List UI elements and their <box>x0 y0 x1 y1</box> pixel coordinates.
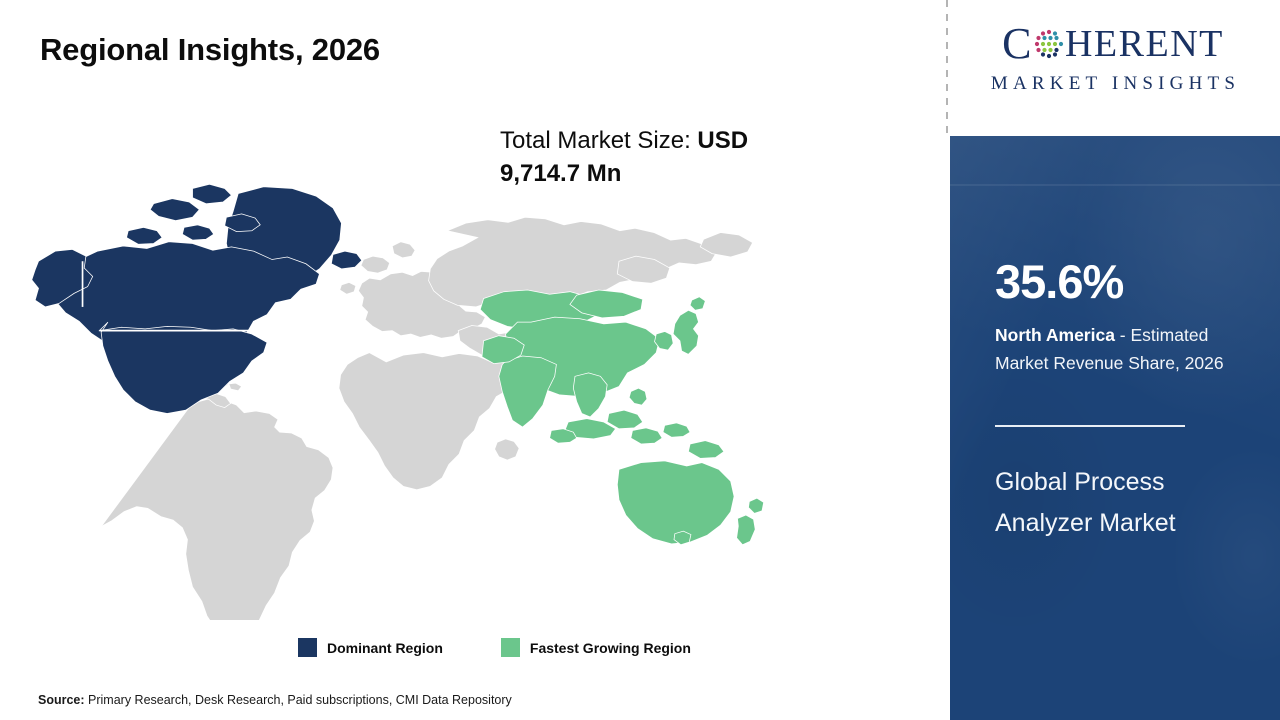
source-label: Source: <box>38 693 85 707</box>
infographic-canvas: Regional Insights, 2026 Total Market Siz… <box>0 0 1280 720</box>
revenue-share-description: North America - Estimated Market Revenue… <box>995 322 1263 377</box>
logo-word-herent: HERENT <box>1065 25 1224 63</box>
map-region-north-america <box>32 184 362 413</box>
legend-item-fastest-growing: Fastest Growing Region <box>501 638 691 657</box>
panel-texture-overlay <box>950 136 1280 720</box>
page-title: Regional Insights, 2026 <box>40 32 380 68</box>
map-legend: Dominant Region Fastest Growing Region <box>298 638 691 657</box>
logo-tagline: MARKET INSIGHTS <box>963 73 1263 95</box>
coherent-market-insights-logo: C <box>963 22 1263 108</box>
map-region-asia-pacific <box>480 290 763 545</box>
dominant-region-name: North America <box>995 325 1115 345</box>
logo-wordmark: C <box>963 22 1263 66</box>
legend-item-dominant: Dominant Region <box>298 638 443 657</box>
vertical-dashed-divider <box>946 0 948 136</box>
panel-divider-rule <box>995 425 1185 427</box>
globe-dots-icon <box>1034 29 1064 59</box>
legend-swatch-fastest-growing-icon <box>501 638 520 657</box>
world-map <box>24 180 884 620</box>
source-text: Primary Research, Desk Research, Paid su… <box>85 693 512 707</box>
legend-label-dominant: Dominant Region <box>327 640 443 656</box>
logo-letter-c: C <box>1002 22 1033 66</box>
panel-texture-line <box>950 184 1280 186</box>
market-name: Global Process Analyzer Market <box>995 462 1250 543</box>
source-note: Source: Primary Research, Desk Research,… <box>38 693 512 707</box>
regional-highlight-panel: 35.6% North America - Estimated Market R… <box>950 136 1280 720</box>
revenue-share-percentage: 35.6% <box>995 258 1123 305</box>
market-size-label: Total Market Size: <box>500 127 697 154</box>
legend-label-fastest-growing: Fastest Growing Region <box>530 640 691 656</box>
legend-swatch-dominant-icon <box>298 638 317 657</box>
